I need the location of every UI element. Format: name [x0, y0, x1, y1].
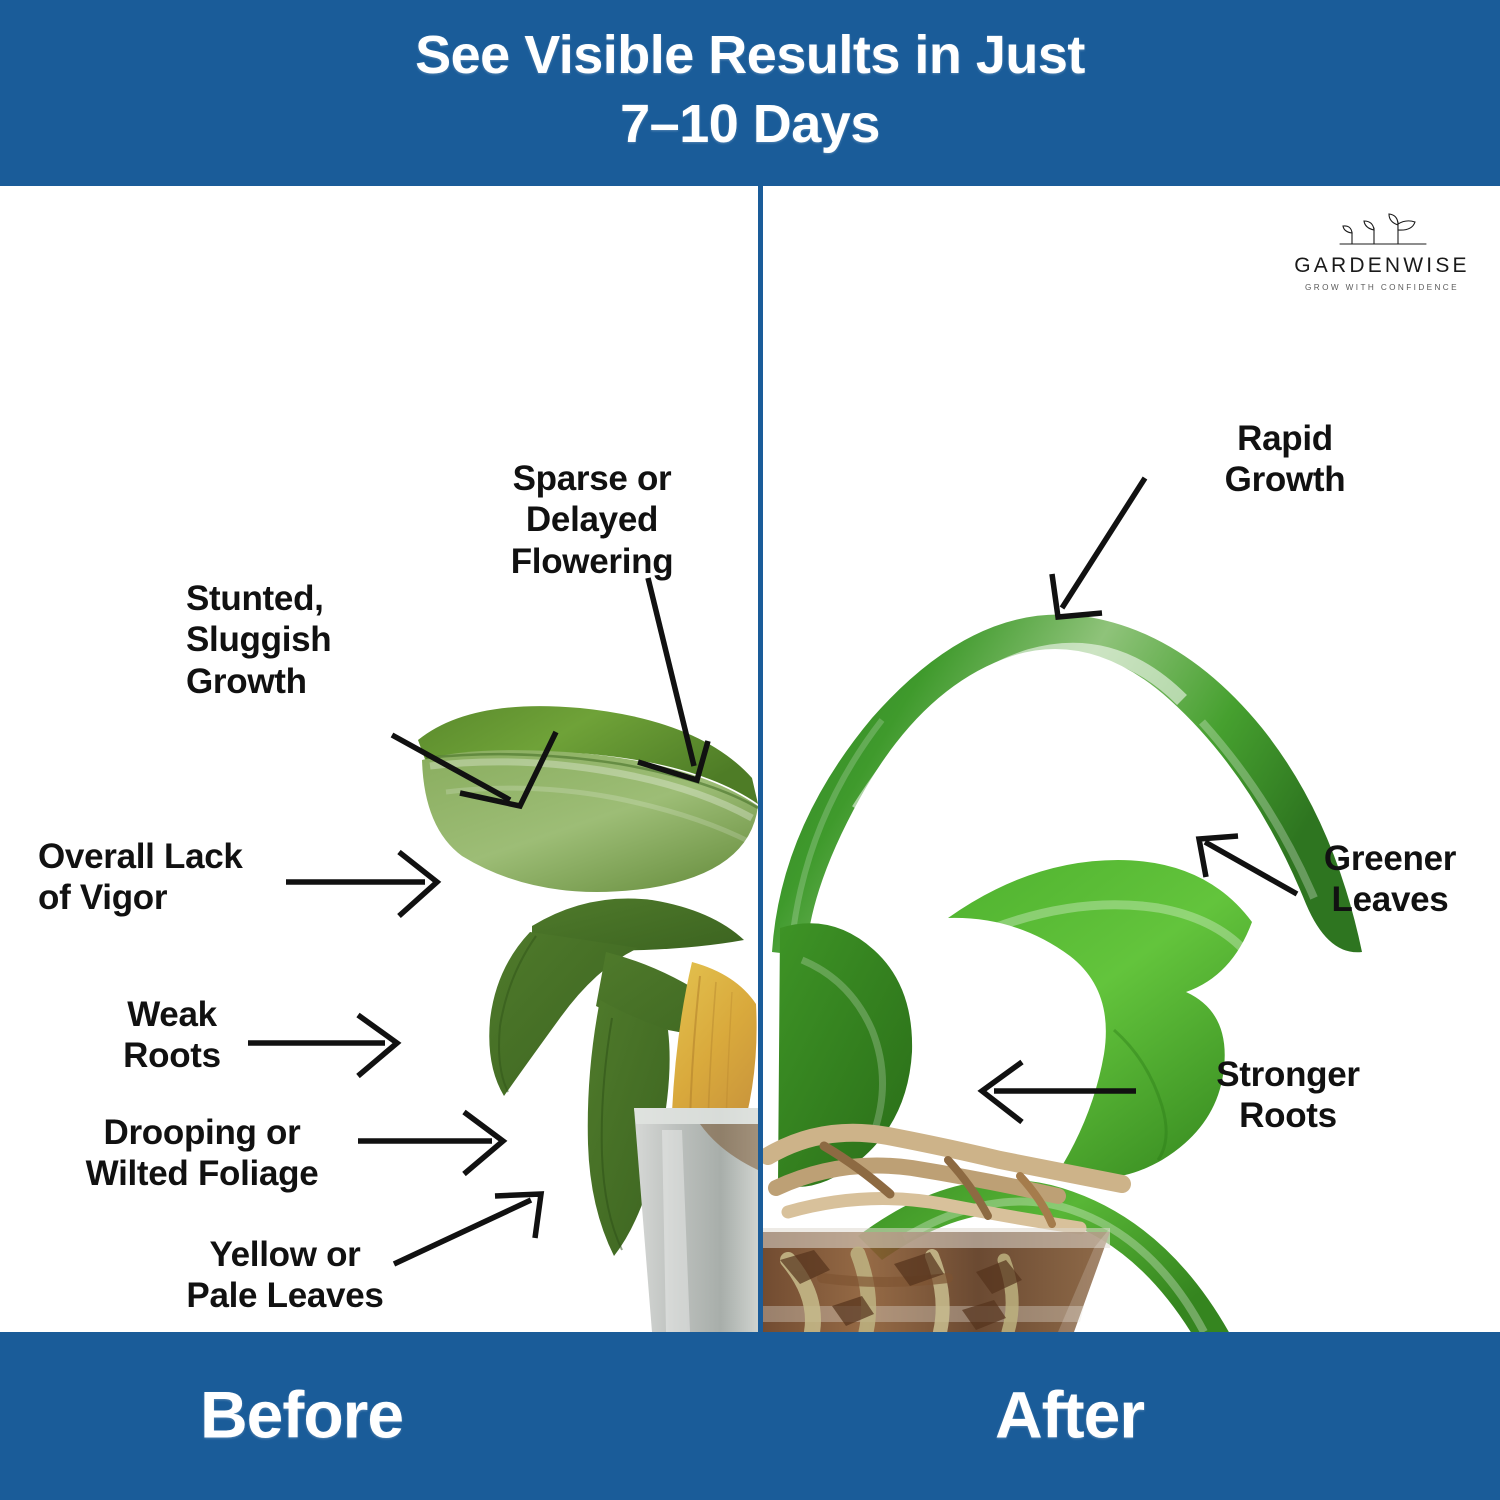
footer-banner: Before After: [0, 1332, 1500, 1500]
after-plant-photo: [762, 560, 1380, 1332]
label-weak-roots: Weak Roots: [72, 994, 272, 1077]
label-greener-leaves: Greener Leaves: [1300, 838, 1480, 921]
label-drooping-foliage: Drooping or Wilted Foliage: [32, 1112, 372, 1195]
panel-divider: [758, 186, 763, 1332]
after-label: After: [995, 1376, 1144, 1452]
label-overall-vigor: Overall Lack of Vigor: [38, 836, 338, 919]
before-label: Before: [200, 1376, 403, 1452]
before-plant-photo: [400, 700, 760, 1332]
logo-tagline: GROW WITH CONFIDENCE: [1282, 283, 1482, 292]
label-rapid-growth: Rapid Growth: [1170, 418, 1400, 501]
label-stunted-growth: Stunted, Sluggish Growth: [186, 578, 486, 702]
sprout-seedlings-icon: [1322, 212, 1442, 252]
comparison-infographic: See Visible Results in Just 7–10 Days: [0, 0, 1500, 1500]
page-title: See Visible Results in Just 7–10 Days: [415, 21, 1085, 159]
label-sparse-flowering: Sparse or Delayed Flowering: [462, 458, 722, 582]
header-banner: See Visible Results in Just 7–10 Days: [0, 0, 1500, 186]
header-title-line1: See Visible Results in Just: [415, 25, 1085, 85]
label-yellow-leaves: Yellow or Pale Leaves: [150, 1234, 420, 1317]
header-title-line2: 7–10 Days: [415, 90, 1085, 159]
logo-wordmark: GARDENWISE: [1282, 254, 1482, 278]
after-plant-illustration: [762, 560, 1380, 1332]
label-stronger-roots: Stronger Roots: [1178, 1054, 1398, 1137]
before-plant-illustration: [400, 700, 760, 1332]
brand-logo: GARDENWISE GROW WITH CONFIDENCE: [1282, 212, 1482, 304]
